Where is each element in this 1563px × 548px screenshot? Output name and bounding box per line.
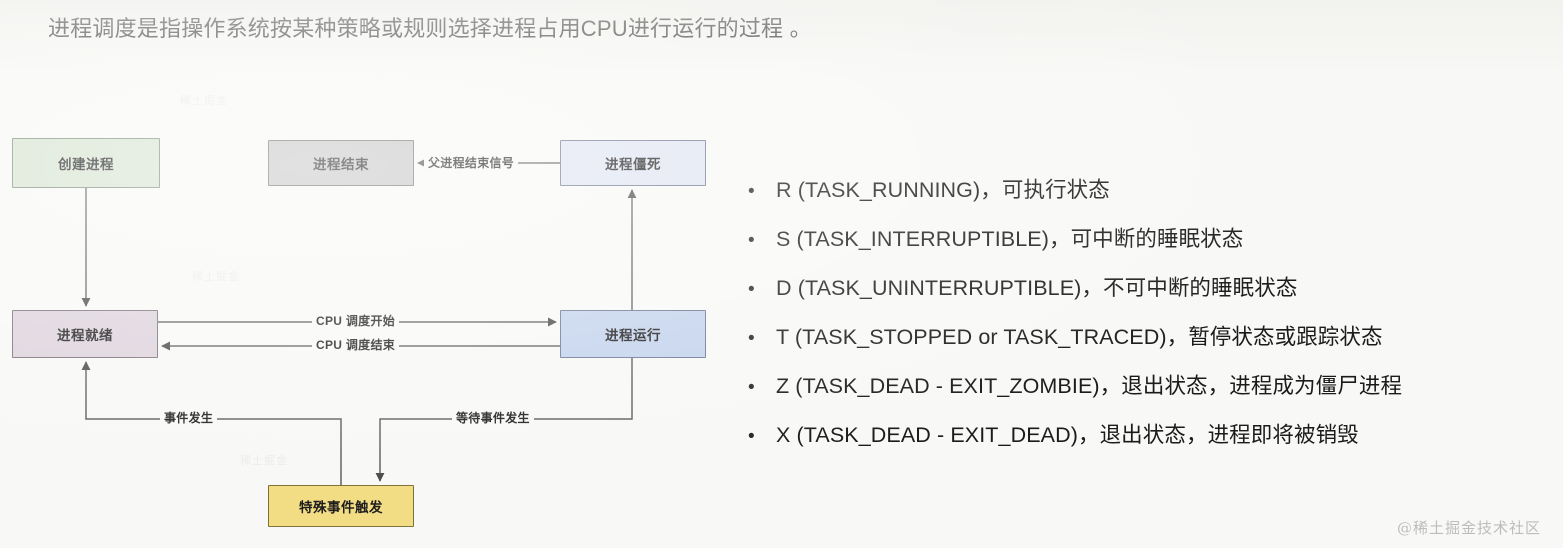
list-item: • X (TASK_DEAD - EXIT_DEAD)，退出状态，进程即将被销毁: [748, 421, 1558, 470]
list-item: • S (TASK_INTERRUPTIBLE)，可中断的睡眠状态: [748, 225, 1558, 274]
state-item-text: X (TASK_DEAD - EXIT_DEAD)，退出状态，进程即将被销毁: [776, 421, 1359, 449]
edge-label-cpu-schedule-end: CPU 调度结束: [312, 338, 399, 352]
list-item: • R (TASK_RUNNING)，可执行状态: [748, 176, 1558, 225]
state-item-text: Z (TASK_DEAD - EXIT_ZOMBIE)，退出状态，进程成为僵尸进…: [776, 372, 1402, 400]
node-special-event[interactable]: 特殊事件触发: [268, 485, 414, 527]
edge-label-cpu-schedule-start: CPU 调度开始: [312, 314, 399, 328]
bullet-icon: •: [748, 280, 776, 299]
state-item-text: S (TASK_INTERRUPTIBLE)，可中断的睡眠状态: [776, 225, 1243, 253]
process-state-list: • R (TASK_RUNNING)，可执行状态 • S (TASK_INTER…: [748, 176, 1558, 470]
bullet-icon: •: [748, 329, 776, 348]
node-process-ready[interactable]: 进程就绪: [12, 310, 158, 358]
bullet-icon: •: [748, 231, 776, 250]
edge-label-wait-for-event: 等待事件发生: [452, 411, 534, 425]
state-item-text: R (TASK_RUNNING)，可执行状态: [776, 176, 1110, 204]
bullet-icon: •: [748, 427, 776, 446]
screenshot-page: 进程调度是指操作系统按某种策略或规则选择进程占用CPU进行运行的过程 。 稀土掘…: [0, 0, 1563, 548]
node-process-running[interactable]: 进程运行: [560, 310, 706, 358]
state-item-text: T (TASK_STOPPED or TASK_TRACED)，暂停状态或跟踪状…: [776, 323, 1383, 351]
process-state-diagram: 创建进程 进程结束 进程僵死 进程就绪 进程运行 特殊事件触发 父进程结束信号 …: [0, 0, 760, 548]
list-item: • Z (TASK_DEAD - EXIT_ZOMBIE)，退出状态，进程成为僵…: [748, 372, 1558, 421]
state-item-text: D (TASK_UNINTERRUPTIBLE)，不可中断的睡眠状态: [776, 274, 1297, 302]
edge-label-event-occurs: 事件发生: [160, 411, 217, 425]
bullet-icon: •: [748, 182, 776, 201]
list-item: • T (TASK_STOPPED or TASK_TRACED)，暂停状态或跟…: [748, 323, 1558, 372]
node-create-process[interactable]: 创建进程: [12, 138, 160, 188]
list-item: • D (TASK_UNINTERRUPTIBLE)，不可中断的睡眠状态: [748, 274, 1558, 323]
site-watermark: @稀土掘金技术社区: [1397, 517, 1541, 538]
node-process-end[interactable]: 进程结束: [268, 140, 414, 186]
diagram-connectors: [0, 0, 760, 548]
edge-label-parent-exit-signal: 父进程结束信号: [424, 156, 518, 170]
bullet-icon: •: [748, 378, 776, 397]
node-process-zombie[interactable]: 进程僵死: [560, 140, 706, 186]
